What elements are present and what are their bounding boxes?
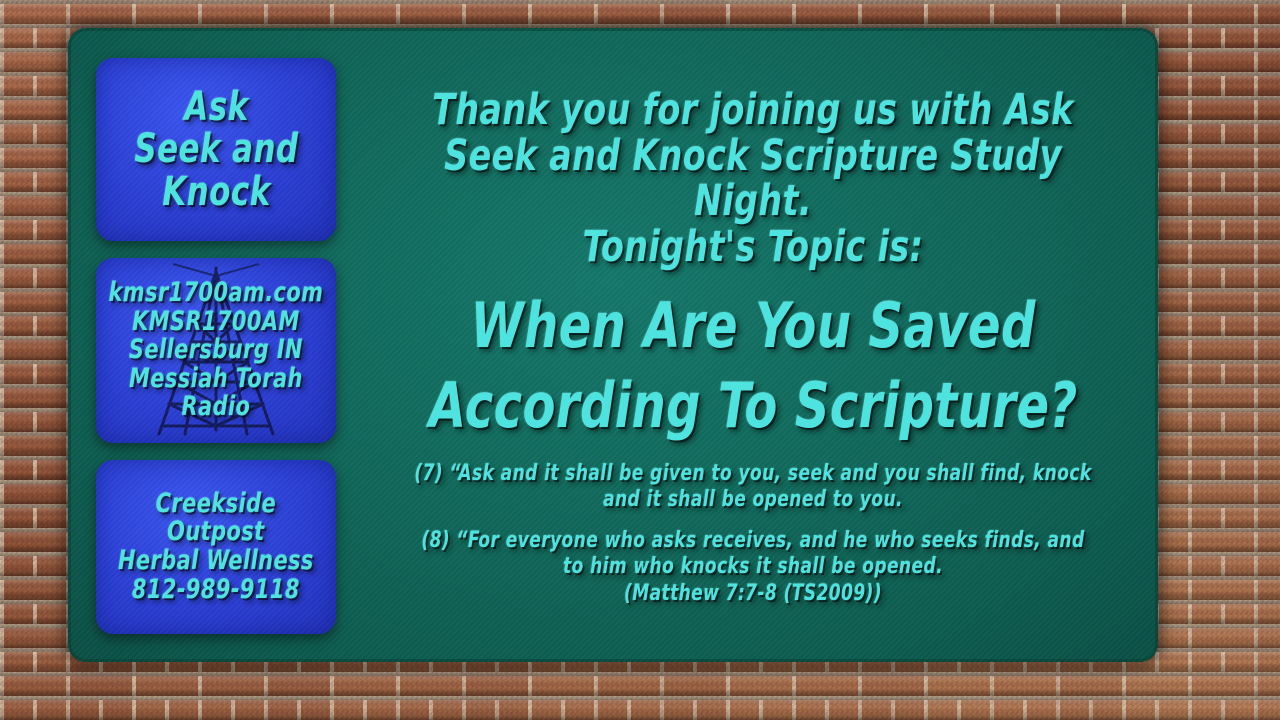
green-panel: Ask Seek and Knock — [68, 28, 1158, 662]
scripture-citation: (Matthew 7:7-8 (TS2009)) — [624, 582, 882, 605]
intro-text: Thank you for joining us with Ask Seek a… — [413, 88, 1092, 270]
poster-canvas: Ask Seek and Knock — [0, 0, 1280, 720]
sponsor-card: Creekside Outpost Herbal Wellness 812-98… — [96, 460, 336, 634]
main-content: Thank you for joining us with Ask Seek a… — [358, 46, 1148, 605]
program-title-text: Ask Seek and Knock — [134, 86, 298, 213]
sponsor-text: Creekside Outpost Herbal Wellness 812-98… — [118, 490, 314, 604]
program-title-card: Ask Seek and Knock — [96, 58, 336, 241]
radio-station-text: kmsr1700am.com KMSR1700AM Sellersburg IN… — [109, 279, 324, 422]
radio-station-card: kmsr1700am.com KMSR1700AM Sellersburg IN… — [96, 258, 336, 443]
topic-headline: When Are You Saved According To Scriptur… — [429, 286, 1078, 445]
scripture-verse-7: (7) “Ask and it shall be given to you, s… — [413, 461, 1092, 514]
scripture-verse-8: (8) “For everyone who asks receives, and… — [413, 528, 1092, 581]
